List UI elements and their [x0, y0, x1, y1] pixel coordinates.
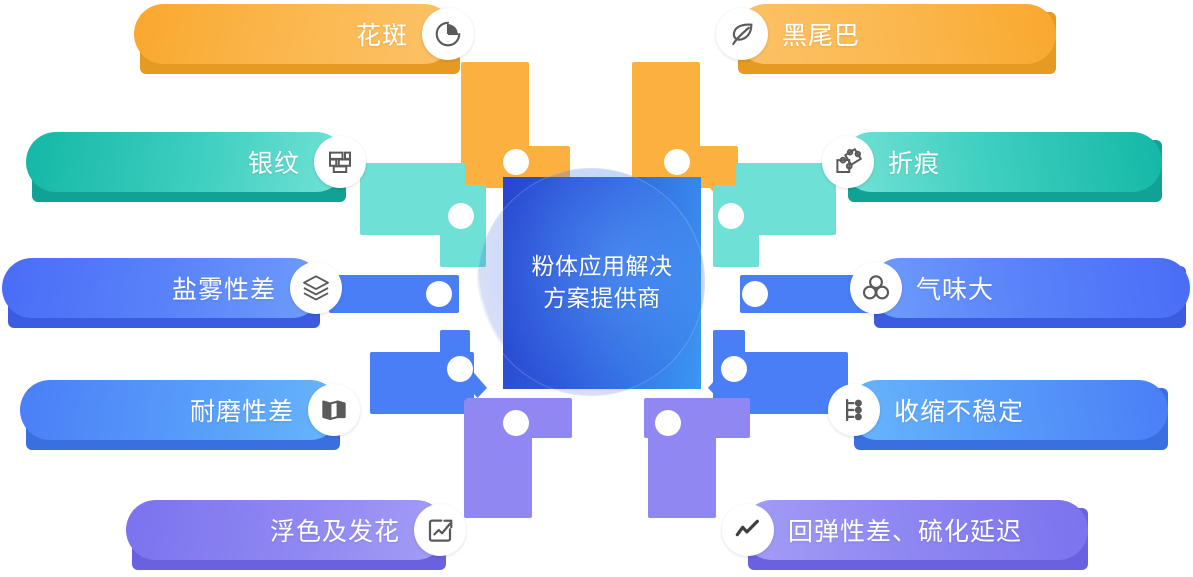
connector-dot-huitanxingcha — [655, 410, 681, 436]
node-label-huitanxingcha: 回弹性差、硫化延迟 — [788, 512, 1022, 548]
connector-dot-naimoxingcha — [447, 356, 473, 382]
node-label-zhehen: 折痕 — [888, 144, 940, 180]
node-qiweida[interactable]: 气味大 — [870, 258, 1190, 318]
center-node[interactable]: 粉体应用解决 方案提供商 — [503, 177, 701, 389]
node-huaban[interactable]: 花斑 — [134, 4, 454, 64]
connector-dot-qiweida — [742, 281, 768, 307]
connector-dot-shousuobuwen — [721, 356, 747, 382]
connector-dot-fusejifahua — [503, 410, 529, 436]
connector-dot-zhehen — [718, 203, 744, 229]
sitemap-icon — [828, 384, 880, 436]
center-title: 粉体应用解决 方案提供商 — [532, 251, 673, 314]
node-label-fusejifahua: 浮色及发花 — [270, 512, 400, 548]
connector-dot-yanwuxingcha — [426, 281, 452, 307]
node-heiweiba[interactable]: 黑尾巴 — [736, 4, 1056, 64]
node-label-yanwuxingcha: 盐雾性差 — [172, 270, 276, 306]
puzzle-icon — [822, 136, 874, 188]
connector-dot-yinwen — [448, 203, 474, 229]
trending-up-icon — [414, 504, 466, 556]
node-yanwuxingcha[interactable]: 盐雾性差 — [2, 258, 322, 318]
node-zhehen[interactable]: 折痕 — [842, 132, 1162, 192]
leaf-icon — [716, 8, 768, 60]
node-label-shousuobuwen: 收缩不稳定 — [894, 392, 1024, 428]
connector-dot-heiweiba — [664, 149, 690, 175]
open-book-icon — [308, 384, 360, 436]
infographic-canvas: 粉体应用解决 方案提供商 花斑 黑尾巴 银纹 — [0, 0, 1193, 577]
recycle-icon — [850, 262, 902, 314]
node-label-huaban: 花斑 — [356, 16, 408, 52]
node-naimoxingcha[interactable]: 耐磨性差 — [20, 380, 340, 440]
node-label-naimoxingcha: 耐磨性差 — [190, 392, 294, 428]
node-yinwen[interactable]: 银纹 — [26, 132, 346, 192]
node-fusejifahua[interactable]: 浮色及发花 — [126, 500, 446, 560]
node-shousuobuwen[interactable]: 收缩不稳定 — [848, 380, 1168, 440]
connector-dot-huaban — [503, 149, 529, 175]
node-huitanxingcha[interactable]: 回弹性差、硫化延迟 — [742, 500, 1088, 560]
layers-icon — [290, 262, 342, 314]
pie-chart-icon — [422, 8, 474, 60]
line-chart-icon — [722, 504, 774, 556]
brick-wall-icon — [314, 136, 366, 188]
node-label-heiweiba: 黑尾巴 — [782, 16, 860, 52]
node-label-qiweida: 气味大 — [916, 270, 994, 306]
node-label-yinwen: 银纹 — [248, 144, 300, 180]
